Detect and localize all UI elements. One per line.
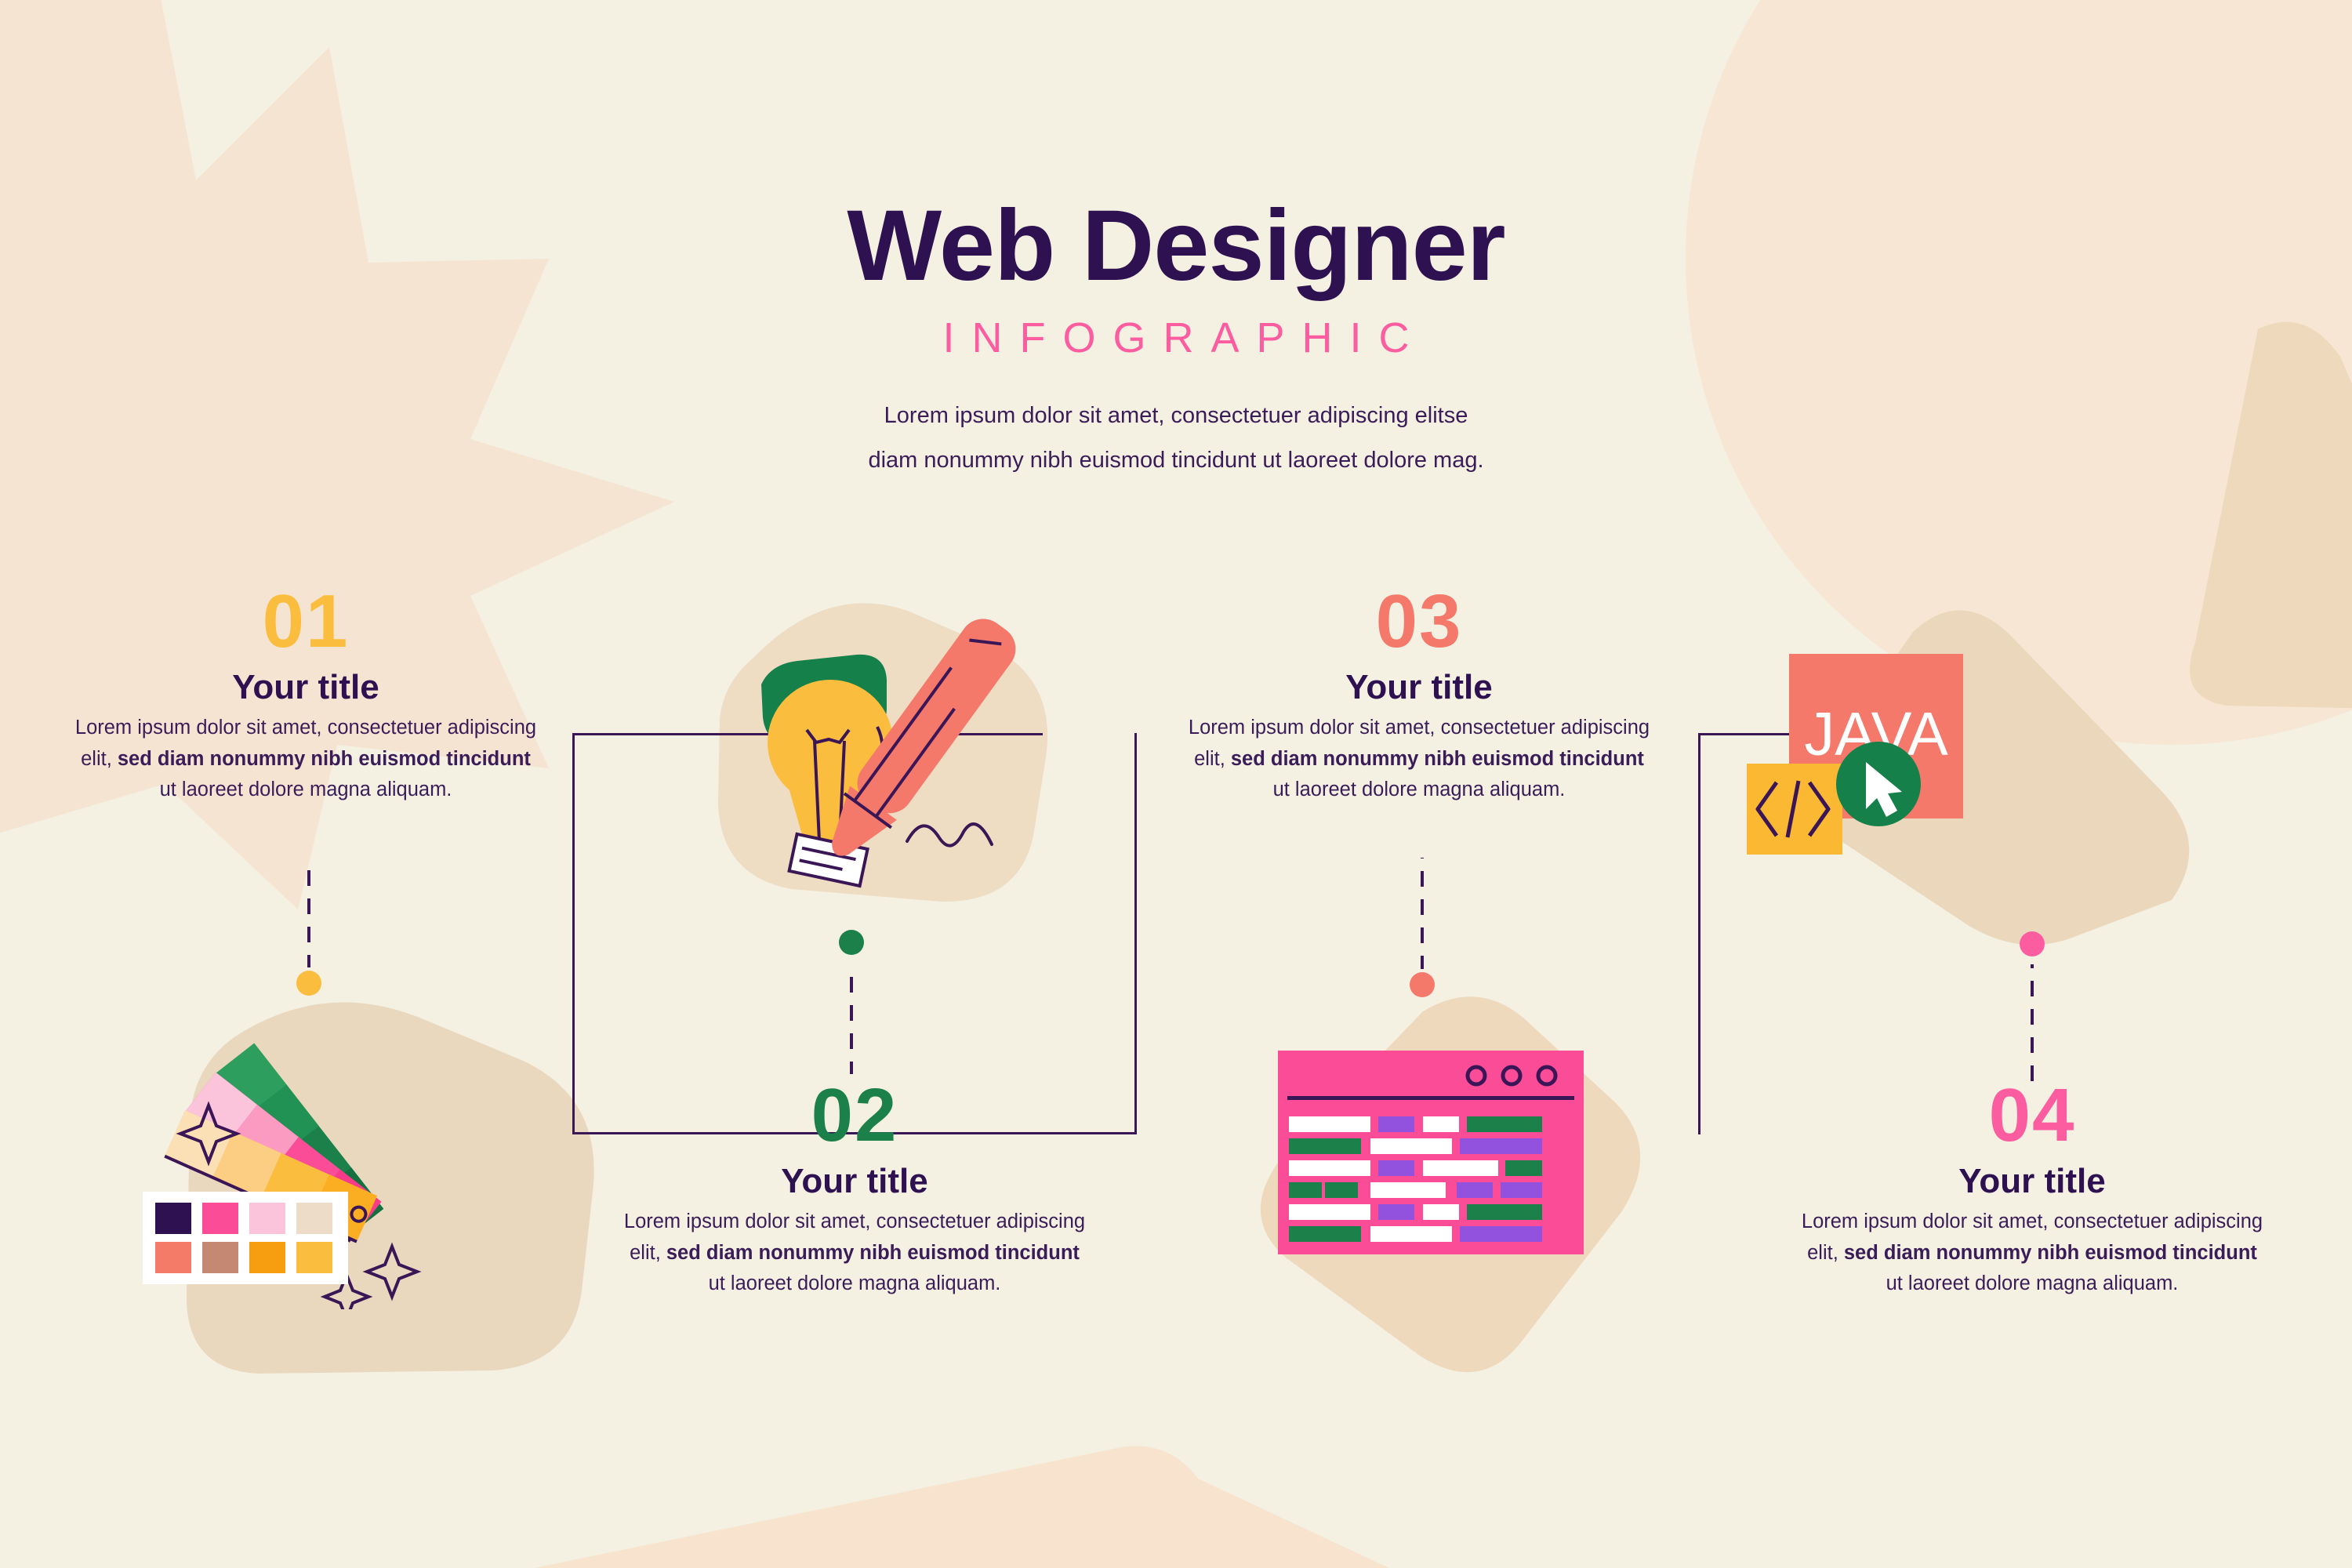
step-03-body: Lorem ipsum dolor sit amet, consectetuer… <box>1184 713 1654 806</box>
sparkle-icon-2 <box>367 1247 417 1297</box>
window-titlebar-rule <box>1287 1096 1574 1100</box>
decor-hill-bottom <box>306 1446 1490 1568</box>
header-description: Lorem ipsum dolor sit amet, consectetuer… <box>784 394 1568 482</box>
step-02-body-post: ut laoreet dolore magna aliquam. <box>709 1272 1001 1294</box>
swatch-1 <box>155 1203 191 1234</box>
step-02-body: Lorem ipsum dolor sit amet, consectetuer… <box>619 1207 1090 1300</box>
swatch-7 <box>249 1242 285 1273</box>
dashline-step-3 <box>1421 858 1424 969</box>
step-01-body-bold: sed diam nonummy nibh euismod tincidunt <box>118 748 531 770</box>
step-01-title: Your title <box>71 670 541 705</box>
code-bar-row-6 <box>1289 1226 1542 1242</box>
step-04-body: Lorem ipsum dolor sit amet, consectetuer… <box>1797 1207 2267 1300</box>
idea-illustration <box>710 592 1039 906</box>
swatch-8 <box>296 1242 332 1273</box>
step-02-body-bold: sed diam nonummy nibh euismod tincidunt <box>666 1242 1080 1264</box>
step-02-number: 02 <box>619 1078 1090 1153</box>
header-description-line2: diam nonummy nibh euismod tincidunt ut l… <box>868 448 1483 473</box>
dashline-step-4 <box>2031 964 2034 1082</box>
step-01-number: 01 <box>71 584 541 659</box>
step-03-number: 03 <box>1184 584 1654 659</box>
code-window-illustration <box>1278 1051 1584 1262</box>
step-01-body: Lorem ipsum dolor sit amet, consectetuer… <box>71 713 541 806</box>
swatch-3 <box>249 1203 285 1234</box>
dot-step-4 <box>2020 931 2045 956</box>
step-04-body-post: ut laoreet dolore magna aliquam. <box>1886 1272 2179 1294</box>
step-04-body-bold: sed diam nonummy nibh euismod tincidunt <box>1844 1242 2257 1264</box>
swatch-6 <box>202 1242 238 1273</box>
color-palette-illustration <box>133 996 463 1309</box>
step-01[interactable]: 01 Your title Lorem ipsum dolor sit amet… <box>71 584 541 806</box>
step-04[interactable]: 04 Your title Lorem ipsum dolor sit amet… <box>1797 1078 2267 1300</box>
swatch-4 <box>296 1203 332 1234</box>
squiggle-mark <box>907 824 992 846</box>
step-03-title: Your title <box>1184 670 1654 705</box>
dashline-step-1 <box>307 858 310 967</box>
page-subtitle: INFOGRAPHIC <box>0 314 2352 362</box>
connector-v-1b <box>1134 733 1137 1134</box>
step-02-title: Your title <box>619 1164 1090 1199</box>
step-04-title: Your title <box>1797 1164 2267 1199</box>
infographic-canvas: Web Designer INFOGRAPHIC Lorem ipsum dol… <box>0 0 2352 1568</box>
dashline-step-2 <box>850 964 853 1074</box>
dot-step-1 <box>296 971 321 996</box>
swatch-5 <box>155 1242 191 1273</box>
step-03[interactable]: 03 Your title Lorem ipsum dolor sit amet… <box>1184 584 1654 806</box>
connector-v-1 <box>572 733 575 1134</box>
page-title: Web Designer <box>0 196 2352 296</box>
step-03-body-post: ut laoreet dolore magna aliquam. <box>1273 779 1566 800</box>
header-description-line1: Lorem ipsum dolor sit amet, consectetuer… <box>884 403 1468 428</box>
code-bar-row-4 <box>1289 1182 1542 1198</box>
step-03-body-bold: sed diam nonummy nibh euismod tincidunt <box>1231 748 1644 770</box>
code-bar-row-2 <box>1289 1138 1542 1154</box>
dot-step-2 <box>839 930 864 955</box>
header-block: Web Designer INFOGRAPHIC Lorem ipsum dol… <box>0 196 2352 482</box>
step-02[interactable]: 02 Your title Lorem ipsum dolor sit amet… <box>619 1078 1090 1300</box>
swatch-2 <box>202 1203 238 1234</box>
step-01-body-post: ut laoreet dolore magna aliquam. <box>160 779 452 800</box>
step-04-number: 04 <box>1797 1078 2267 1153</box>
java-illustration: JAVA <box>1733 643 2046 925</box>
connector-v-3 <box>1698 733 1700 1134</box>
dot-step-3 <box>1410 972 1435 997</box>
